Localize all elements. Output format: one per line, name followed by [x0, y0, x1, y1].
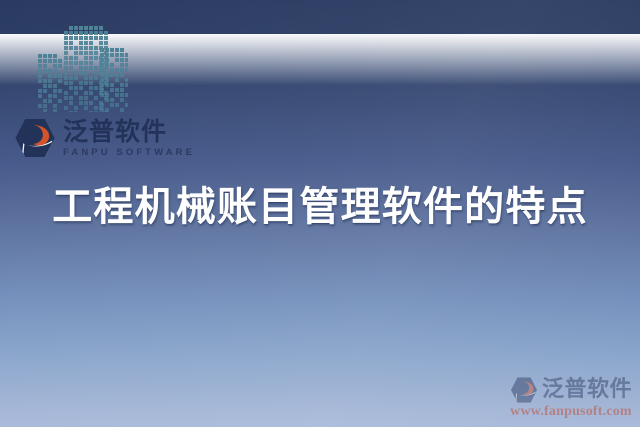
watermark-brand-name: 泛普软件: [542, 379, 632, 401]
brand-name-cn: 泛普软件: [63, 119, 195, 144]
page-title: 工程机械账目管理软件的特点: [0, 183, 640, 232]
fanpu-hexagon-logo-icon: [14, 117, 56, 159]
left-tower: [38, 54, 62, 112]
watermark-hexagon-logo-icon: [510, 376, 538, 404]
promo-banner: 泛普软件 FANPU SOFTWARE 工程机械账目管理软件的特点: [0, 0, 640, 427]
brand-logo: 泛普软件 FANPU SOFTWARE: [14, 117, 195, 159]
watermark: 泛普软件 www.fanpusoft.com: [510, 376, 632, 419]
pixel-skyline-decoration: [36, 24, 128, 112]
brand-name-en: FANPU SOFTWARE: [63, 148, 195, 158]
watermark-logo-row: 泛普软件: [510, 376, 632, 404]
skyline-icon: [36, 24, 128, 112]
watermark-url: www.fanpusoft.com: [510, 405, 632, 419]
brand-logo-text: 泛普软件 FANPU SOFTWARE: [63, 119, 195, 158]
